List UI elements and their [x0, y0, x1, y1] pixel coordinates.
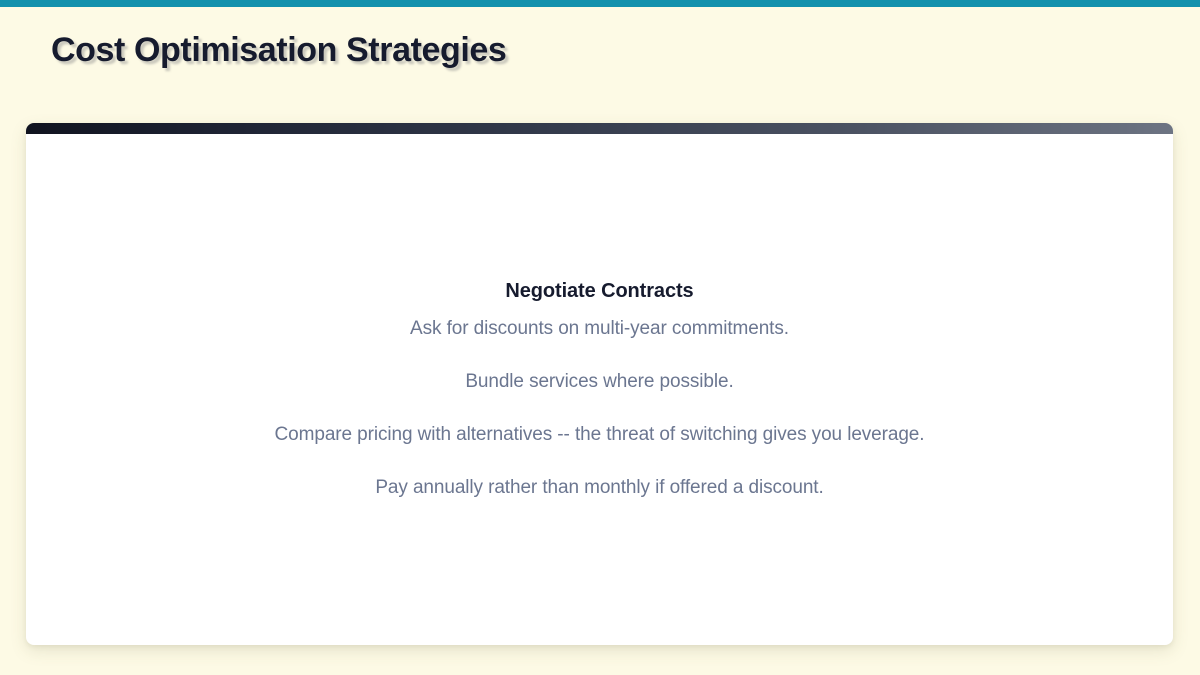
card-paragraph: Bundle services where possible.: [465, 369, 733, 395]
card-heading: Negotiate Contracts: [505, 278, 693, 304]
card-paragraph: Pay annually rather than monthly if offe…: [375, 475, 823, 501]
card-paragraph: Ask for discounts on multi-year commitme…: [410, 316, 789, 342]
card-paragraph: Compare pricing with alternatives -- the…: [275, 422, 925, 448]
card-top-gradient-bar: [26, 123, 1173, 134]
page-title: Cost Optimisation Strategies: [51, 27, 506, 73]
content-card: Negotiate Contracts Ask for discounts on…: [26, 123, 1173, 645]
top-accent-bar: [0, 0, 1200, 7]
card-body: Negotiate Contracts Ask for discounts on…: [26, 134, 1173, 645]
